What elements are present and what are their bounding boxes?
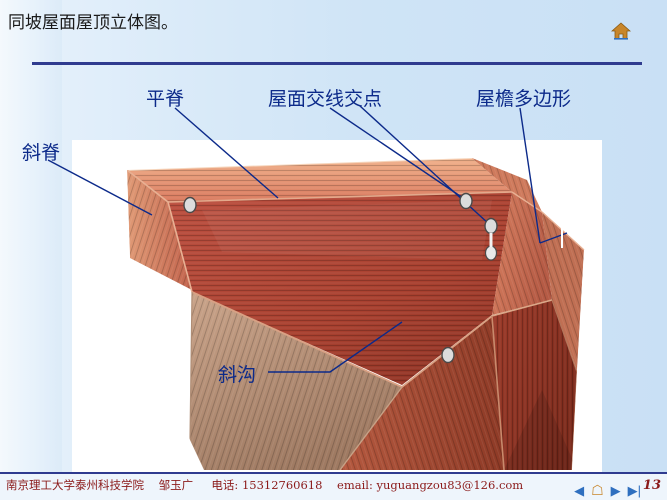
footer-author: 邹玉广 [159,478,194,492]
label-intersection: 屋面交线交点 [268,84,382,111]
label-valley: 斜沟 [218,360,256,387]
home-icon[interactable] [611,22,631,45]
label-eaves-polygon: 屋檐多边形 [476,84,571,111]
footer-bar: 南京理工大学泰州科技学院 邹玉广 电话: 15312760618 email: … [0,474,667,500]
page-number: 13 [643,478,661,493]
footer-email-label: email: [337,478,373,492]
triangle-right-bar-icon[interactable]: ▶| [628,484,641,497]
slide-canvas: 同坡屋面屋顶立体图。 [0,0,667,500]
footer-phone: 15312760618 [242,478,322,492]
footer-email: yuguangzou83@126.com [377,478,524,492]
footer-institution: 南京理工大学泰州科技学院 [6,478,144,492]
triangle-right-icon[interactable]: ▶ [611,484,621,497]
label-ridge: 平脊 [146,84,184,111]
home-icon-footer[interactable]: ☖ [591,483,604,497]
label-hip: 斜脊 [22,138,60,165]
title-divider [32,62,642,65]
tiled-hip-roof-photo [72,140,602,480]
footer-phone-label: 电话: [211,478,238,492]
page-title: 同坡屋面屋顶立体图。 [8,8,178,33]
footer-credits: 南京理工大学泰州科技学院 邹玉广 电话: 15312760618 email: … [6,477,523,493]
triangle-left-icon[interactable]: ◀ [574,484,584,497]
slide-nav-controls[interactable]: ◀ ☖ ▶ ▶| [574,483,641,497]
